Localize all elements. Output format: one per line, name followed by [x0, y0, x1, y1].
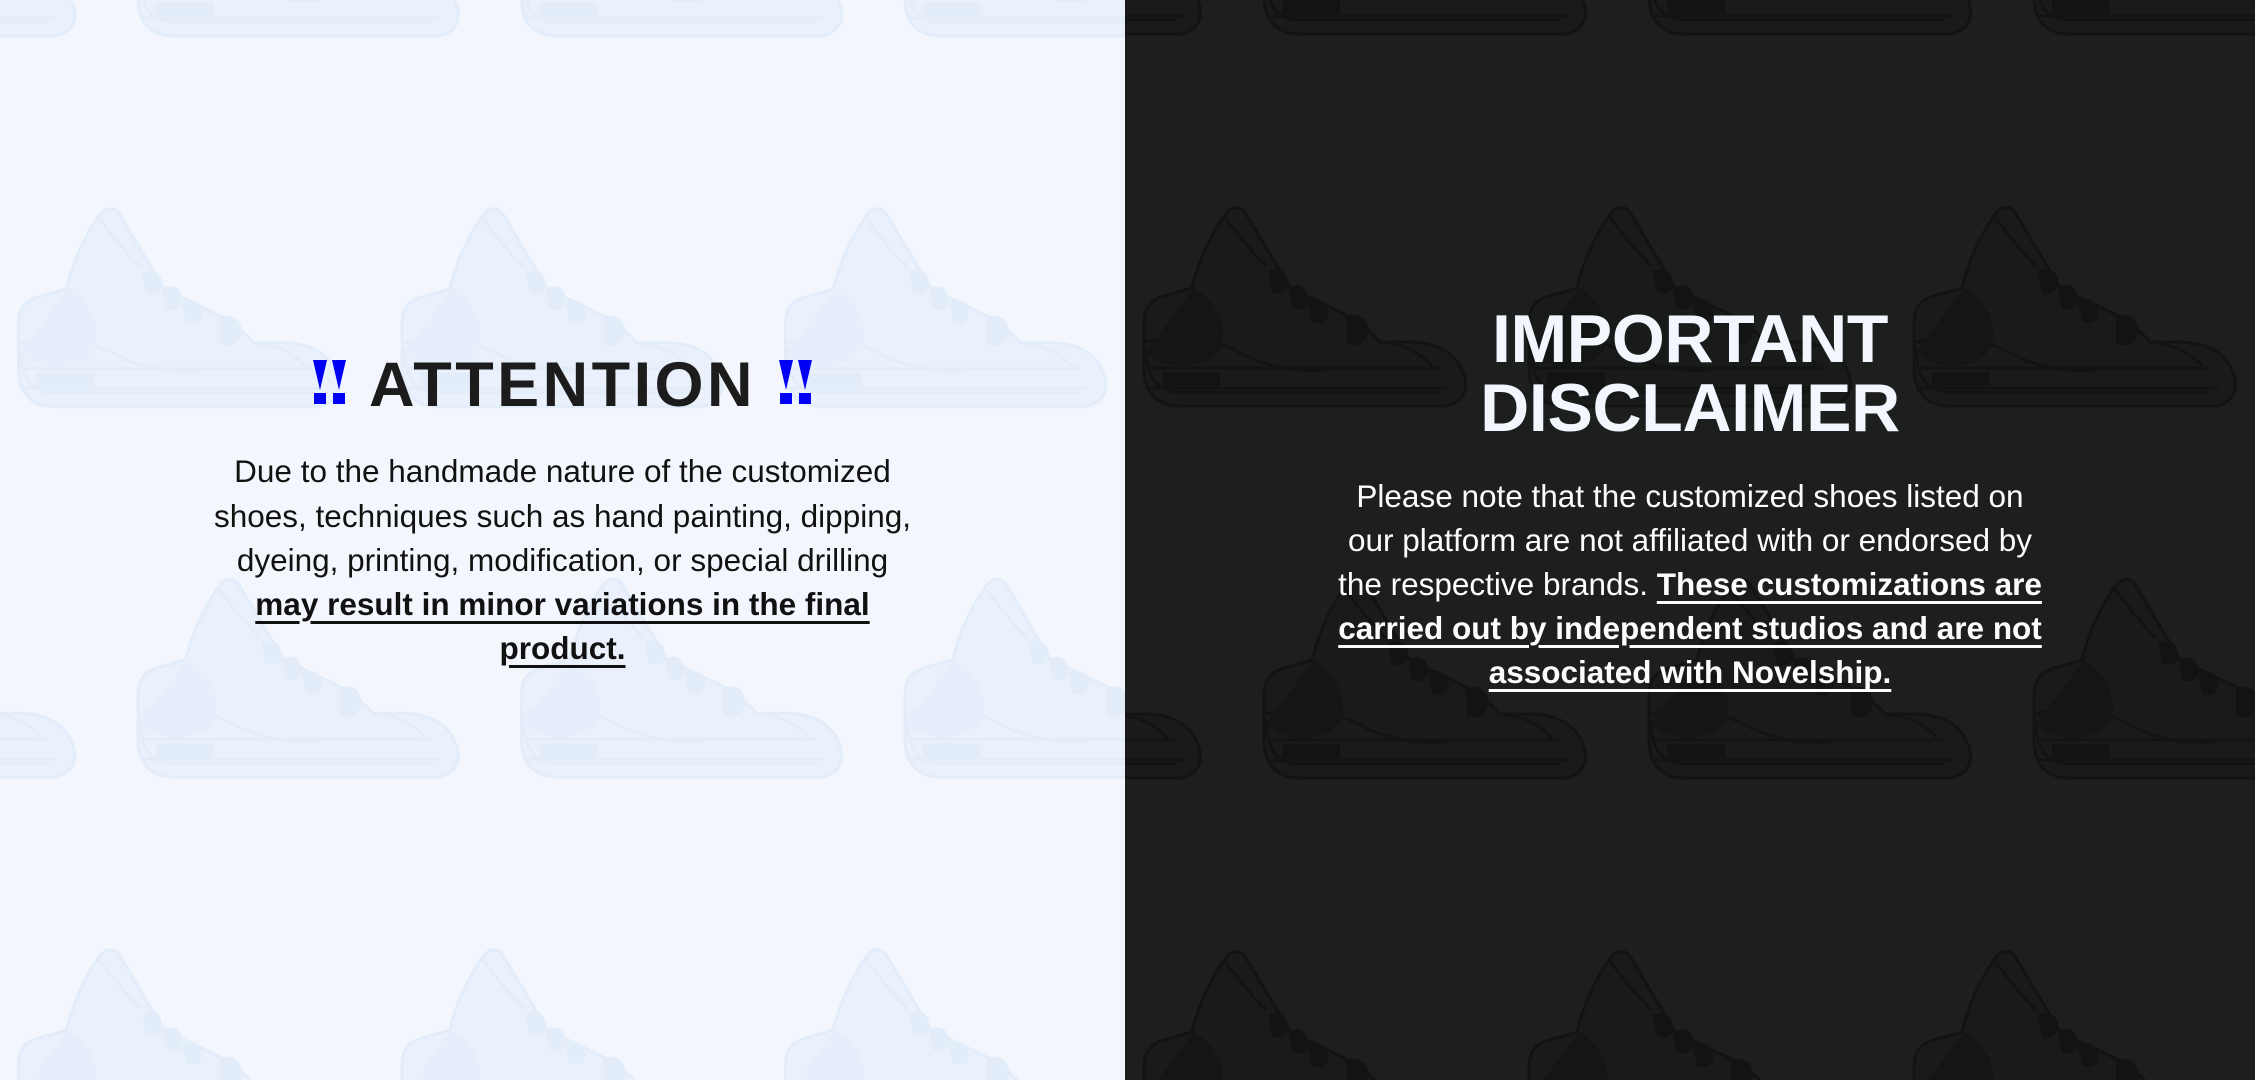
disclaimer-panel: IMPORTANT DISCLAIMER Please note that th… [1125, 0, 2255, 1080]
disclaimer-content: IMPORTANT DISCLAIMER Please note that th… [1125, 0, 2255, 694]
attention-panel: ATTENTION Due to the handmade nature of … [0, 0, 1125, 1080]
disclaimer-body: Please note that the customized shoes li… [1330, 474, 2050, 694]
attention-heading: ATTENTION [0, 355, 1125, 415]
attention-body-normal: Due to the handmade nature of the custom… [214, 453, 911, 577]
two-panel-notice: ATTENTION Due to the handmade nature of … [0, 0, 2255, 1080]
disclaimer-heading-line-1: IMPORTANT [1310, 305, 2070, 374]
disclaimer-heading: IMPORTANT DISCLAIMER [1310, 305, 2070, 444]
disclaimer-heading-line-2: DISCLAIMER [1310, 374, 2070, 443]
attention-body-emphasis: may result in minor variations in the fi… [255, 586, 869, 666]
attention-content: ATTENTION Due to the handmade nature of … [0, 0, 1125, 670]
double-exclamation-mark-icon-right [778, 360, 813, 404]
double-exclamation-mark-icon-left [312, 360, 347, 404]
attention-body: Due to the handmade nature of the custom… [213, 449, 913, 669]
attention-heading-text: ATTENTION [369, 355, 756, 415]
